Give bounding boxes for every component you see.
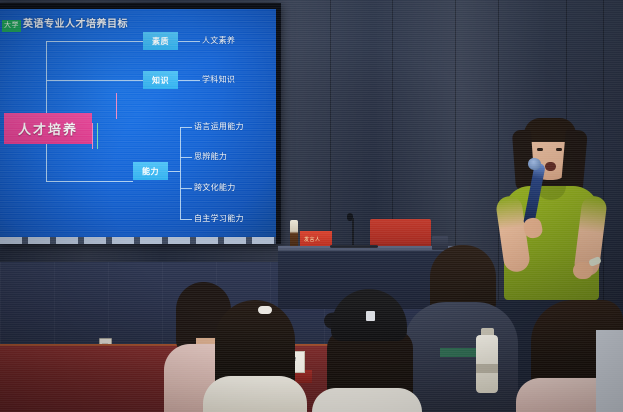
- speaker-eye-right: [556, 148, 562, 151]
- speaker-eye-left: [537, 148, 543, 151]
- desk-microphone-base: [330, 245, 378, 248]
- connector: [46, 144, 47, 182]
- mindmap-leaf-sibian: 思辨能力: [194, 152, 227, 162]
- desk-microphone-stem: [352, 218, 354, 248]
- connector: [46, 80, 143, 81]
- mindmap-leaf-zizhu: 自主学习能力: [194, 214, 244, 224]
- connector: [178, 80, 200, 81]
- connector: [180, 127, 181, 219]
- highlight-mark: [116, 93, 117, 119]
- mindmap-leaf-renwen: 人文素养: [202, 36, 235, 46]
- screen-bottom-reflection: [0, 237, 276, 244]
- connector: [180, 157, 192, 158]
- mindmap-leaf-xueke: 学科知识: [202, 75, 235, 85]
- mindmap-root-node: 人才培养: [4, 113, 92, 144]
- connector: [178, 41, 200, 42]
- attendee-hair-tie: [258, 306, 272, 314]
- mindmap-leaf-kuawenhua: 跨文化能力: [194, 183, 236, 193]
- speaker-mouth: [545, 162, 556, 171]
- connector: [180, 127, 192, 128]
- connector: [46, 41, 143, 42]
- audience-bottle-label: [476, 364, 498, 373]
- mindmap-leaf-yuyan: 语言运用能力: [194, 122, 244, 132]
- podium-name-card-text: 发言人: [304, 236, 321, 243]
- connector: [180, 188, 192, 189]
- projection-screen-frame: 大学 英语专业人才培养目标 人才培养 素质 人文素养 知识 学科知识 能力: [0, 3, 281, 244]
- slide-badge: 大学: [2, 20, 21, 32]
- wall-seam: [603, 0, 604, 300]
- connector: [46, 41, 47, 113]
- connector: [168, 171, 180, 172]
- slide-title: 英语专业人才培养目标: [23, 19, 128, 31]
- lecture-hall-photo: 大学 英语专业人才培养目标 人才培养 素质 人文素养 知识 学科知识 能力: [0, 0, 623, 412]
- list-item: [312, 388, 422, 412]
- mindmap-node-nengli: 能力: [133, 162, 168, 180]
- podium-laptop: [432, 236, 448, 250]
- wall-seam: [498, 0, 499, 300]
- list-item: [596, 330, 623, 412]
- highlight-mark: [97, 123, 98, 149]
- cap-logo-icon: [366, 311, 375, 321]
- list-item: [203, 376, 307, 412]
- connector: [46, 181, 133, 182]
- mindmap-node-suzhi: 素质: [143, 32, 178, 50]
- list-item: [404, 302, 518, 412]
- mindmap-node-zhishi: 知识: [143, 71, 178, 89]
- projection-screen: 大学 英语专业人才培养目标 人才培养 素质 人文素养 知识 学科知识 能力: [0, 9, 276, 237]
- highlight-mark: [92, 123, 93, 149]
- connector: [180, 219, 192, 220]
